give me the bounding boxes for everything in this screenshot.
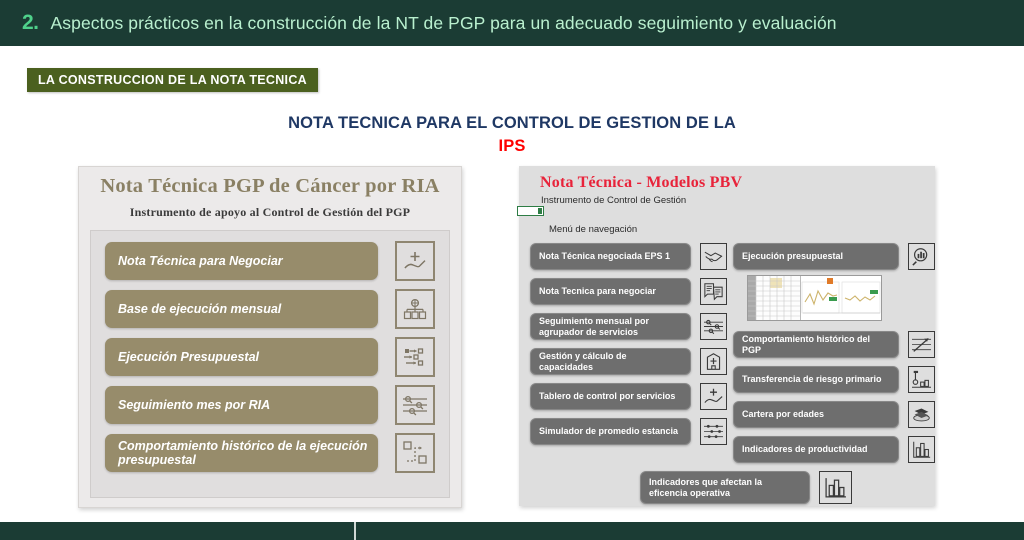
menu-button-simulador-promedio-estancia[interactable]: Simulador de promedio estancia — [530, 418, 691, 445]
menu-button-indicadores-productividad[interactable]: Indicadores de productividad — [733, 436, 899, 463]
left-menu-button-seguimiento-mes-ria[interactable]: Seguimiento mes por RIA — [105, 386, 378, 424]
menu-button-gestion-calculo-capacidades[interactable]: Gestión y cálculo de capacidades — [530, 348, 691, 375]
menu-button-nota-tecnica-negociada-eps1[interactable]: Nota Técnica negociada EPS 1 — [530, 243, 691, 270]
bar-chart-icon — [819, 471, 852, 504]
plus-hand-icon — [700, 383, 727, 410]
left-menu-button-nota-tecnica-negociar[interactable]: Nota Técnica para Negociar — [105, 242, 378, 280]
slide-number: 2. — [22, 11, 39, 35]
page-title-line1: NOTA TECNICA PARA EL CONTROL DE GESTION … — [288, 114, 736, 132]
green-marker-icon — [517, 206, 544, 216]
bar-chart-icon — [908, 436, 935, 463]
list-item[interactable]: Nota Tecnica para negociar — [519, 279, 727, 304]
slide-header-title: Aspectos prácticos en la construcción de… — [51, 13, 837, 34]
page-title: NOTA TECNICA PARA EL CONTROL DE GESTION … — [0, 112, 1024, 158]
risk-transfer-icon — [908, 366, 935, 393]
left-panel-subtitle: Instrumento de apoyo al Control de Gesti… — [79, 205, 461, 220]
list-item[interactable]: Tablero de control por servicios — [519, 384, 727, 409]
list-item[interactable]: Gestión y cálculo de capacidades — [519, 349, 727, 374]
chat-document-icon — [700, 278, 727, 305]
menu-button-tablero-control-servicios[interactable]: Tablero de control por servicios — [530, 383, 691, 410]
section-badge-label: LA CONSTRUCCION DE LA NOTA TECNICA — [38, 73, 307, 87]
left-panel-title: Nota Técnica PGP de Cáncer por RIA — [79, 175, 461, 198]
right-panel-subtitle: Instrumento de Control de Gestión — [541, 195, 686, 206]
right-panel: Nota Técnica - Modelos PBV Instrumento d… — [519, 166, 935, 506]
list-item[interactable]: Base de ejecución mensual — [105, 290, 435, 328]
slide-header: 2. Aspectos prácticos en la construcción… — [0, 0, 1024, 46]
plus-hand-icon — [395, 241, 435, 281]
cash-money-icon — [908, 401, 935, 428]
right-panel-right-column: Ejecución presupuestal — [727, 244, 935, 506]
list-item[interactable]: Nota Técnica para Negociar — [105, 242, 435, 280]
menu-button-cartera-por-edades[interactable]: Cartera por edades — [733, 401, 899, 428]
handshake-icon — [700, 243, 727, 270]
menu-button-ejecucion-presupuestal[interactable]: Ejecución presupuestal — [733, 243, 899, 270]
sliders-rows-icon — [700, 313, 727, 340]
menu-button-seguimiento-mensual-agrupador[interactable]: Seguimiento mensual por agrupador de ser… — [530, 313, 691, 340]
list-item[interactable]: Comportamiento histórico de la ejecución… — [105, 434, 435, 472]
list-item[interactable]: Comportamiento histórico del PGP — [727, 332, 935, 357]
list-item[interactable]: Seguimiento mensual por agrupador de ser… — [519, 314, 727, 339]
header-underline — [0, 46, 1024, 50]
section-badge: LA CONSTRUCCION DE LA NOTA TECNICA — [27, 68, 318, 92]
navigation-menu-label: Menú de navegación — [549, 224, 637, 235]
left-menu-button-comportamiento-historico[interactable]: Comportamiento histórico de la ejecución… — [105, 434, 378, 472]
trend-arrow-icon — [908, 331, 935, 358]
list-item[interactable]: Transferencia de riesgo primario — [727, 367, 935, 392]
distribution-folders-icon — [395, 289, 435, 329]
left-panel-menu: Nota Técnica para Negociar Base de ejecu… — [90, 230, 450, 498]
slide-footer — [0, 522, 1024, 540]
list-item[interactable]: Indicadores que afectan la eficencia ope… — [640, 471, 852, 504]
list-item[interactable]: Seguimiento mes por RIA — [105, 386, 435, 424]
dashed-route-icon — [395, 433, 435, 473]
right-panel-title: Nota Técnica - Modelos PBV — [540, 174, 742, 192]
hospital-icon — [700, 348, 727, 375]
list-item[interactable]: Cartera por edades — [727, 402, 935, 427]
list-item[interactable]: Ejecución Presupuestal — [105, 338, 435, 376]
thumbnail-charts — [801, 276, 881, 320]
flow-arrows-icon — [395, 337, 435, 377]
list-item[interactable]: Nota Técnica negociada EPS 1 — [519, 244, 727, 269]
footer-divider — [354, 522, 356, 540]
sliders-grid-icon — [700, 418, 727, 445]
sliders-rows-icon — [395, 385, 435, 425]
spreadsheet-chart-thumbnail — [747, 275, 882, 321]
list-item[interactable]: Indicadores de productividad — [727, 437, 935, 462]
menu-button-transferencia-riesgo-primario[interactable]: Transferencia de riesgo primario — [733, 366, 899, 393]
left-menu-button-base-ejecucion-mensual[interactable]: Base de ejecución mensual — [105, 290, 378, 328]
menu-button-comportamiento-historico-pgp[interactable]: Comportamiento histórico del PGP — [733, 331, 899, 358]
left-menu-button-ejecucion-presupuestal[interactable]: Ejecución Presupuestal — [105, 338, 378, 376]
list-item[interactable]: Simulador de promedio estancia — [519, 419, 727, 444]
list-item[interactable]: Ejecución presupuestal — [727, 244, 935, 269]
menu-button-indicadores-eficiencia-operativa[interactable]: Indicadores que afectan la eficencia ope… — [640, 471, 810, 504]
left-panel: Nota Técnica PGP de Cáncer por RIA Instr… — [78, 166, 462, 508]
magnifier-bars-icon — [908, 243, 935, 270]
thumbnail-spreadsheet — [748, 276, 801, 320]
menu-button-nota-tecnica-para-negociar[interactable]: Nota Tecnica para negociar — [530, 278, 691, 305]
right-panel-left-column: Nota Técnica negociada EPS 1 Nota Tecnic… — [519, 244, 727, 506]
page-title-accent: IPS — [0, 135, 1024, 158]
